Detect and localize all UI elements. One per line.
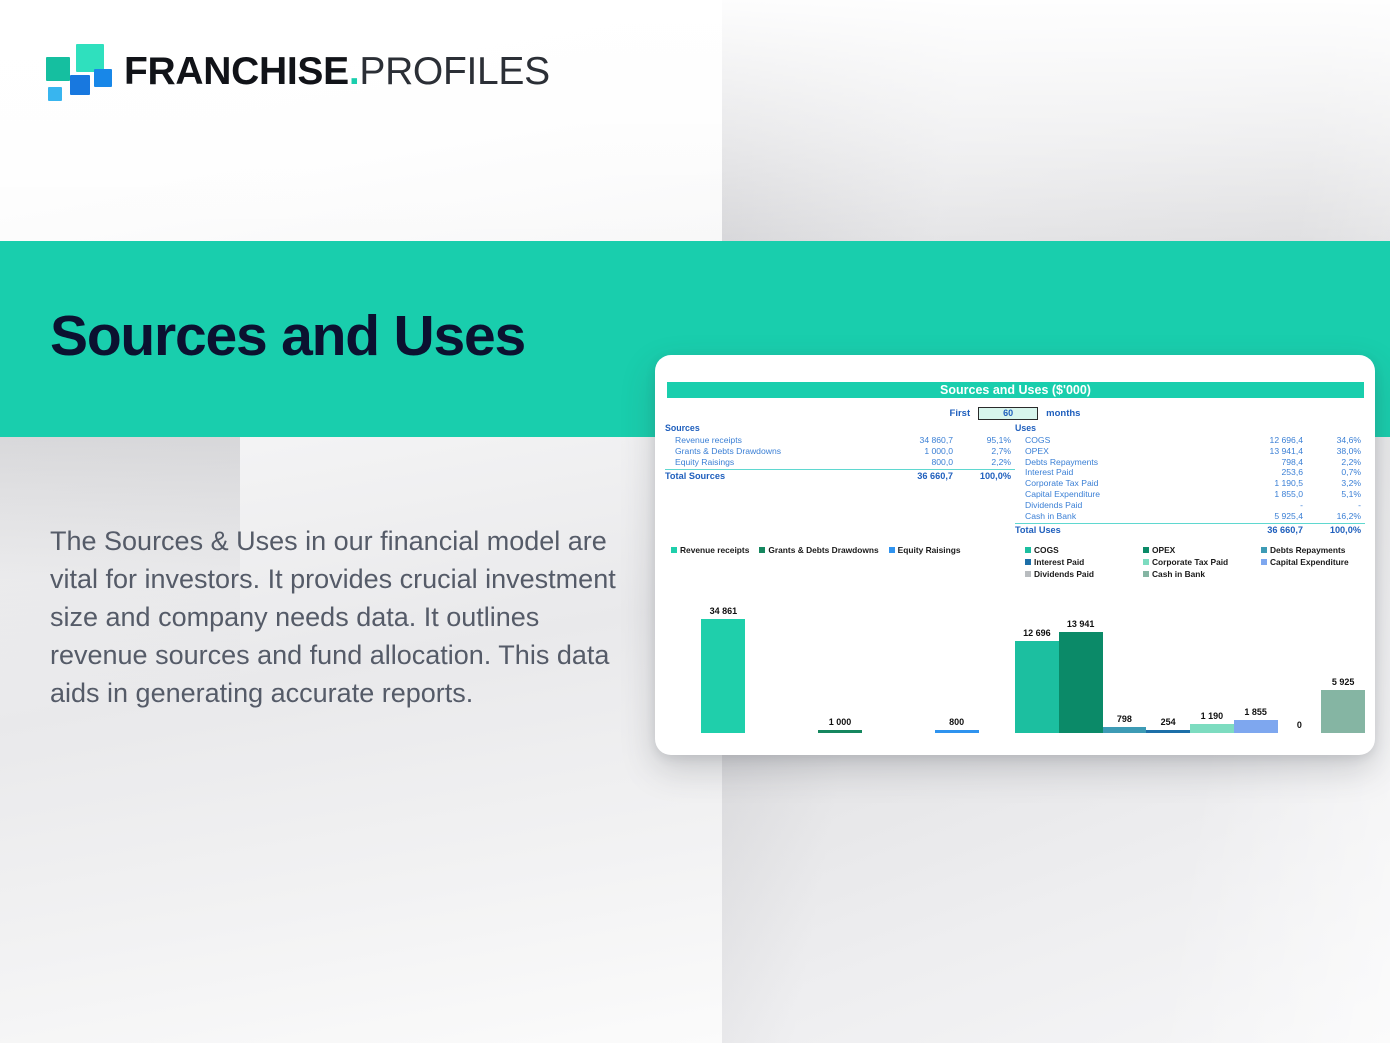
bar-value-label: 800 — [949, 717, 964, 727]
use-row-value: 12 696,4 — [1225, 435, 1303, 445]
legend-label: Corporate Tax Paid — [1152, 557, 1228, 567]
use-row-label: Cash in Bank — [1015, 511, 1225, 521]
legend-label: Capital Expenditure — [1270, 557, 1349, 567]
sources-and-uses-table: Sources Revenue receipts34 860,795,1%Gra… — [665, 423, 1365, 533]
legend-item[interactable]: Grants & Debts Drawdowns — [759, 545, 878, 555]
legend-item[interactable]: Interest Paid — [1025, 557, 1143, 567]
brand-name-bold: FRANCHISE — [124, 52, 349, 91]
use-row-pct: 38,0% — [1303, 446, 1365, 456]
uses-total-label: Total Uses — [1015, 525, 1225, 535]
sources-total-pct: 100,0% — [953, 471, 1015, 481]
bar[interactable] — [701, 619, 745, 733]
source-row-pct: 95,1% — [953, 435, 1015, 445]
months-input[interactable]: 60 — [978, 407, 1038, 420]
charts-area: 34 8611 000800 12 69613 9417982541 1901 … — [665, 583, 1365, 745]
sources-header: Sources — [665, 423, 1015, 435]
source-row-value: 34 860,7 — [875, 435, 953, 445]
background-top-sheen — [0, 0, 1390, 250]
five-squares-logo-mark-icon — [46, 42, 108, 100]
table-row: Cash in Bank5 925,416,2% — [1015, 511, 1365, 522]
uses-column: Uses COGS12 696,434,6%OPEX13 941,438,0%D… — [1015, 423, 1365, 533]
uses-rows: COGS12 696,434,6%OPEX13 941,438,0%Debts … — [1015, 435, 1365, 521]
bar-value-label: 34 861 — [710, 606, 738, 616]
legend-item[interactable]: Equity Raisings — [889, 545, 961, 555]
legend-item[interactable]: Capital Expenditure — [1261, 557, 1375, 567]
chart-legends: Revenue receiptsGrants & Debts Drawdowns… — [665, 545, 1365, 585]
sources-legend: Revenue receiptsGrants & Debts Drawdowns… — [665, 545, 1015, 585]
source-row-value: 800,0 — [875, 457, 953, 467]
bar-value-label: 1 000 — [829, 717, 852, 727]
table-row: Capital Expenditure1 855,05,1% — [1015, 489, 1365, 500]
table-row: Interest Paid253,60,7% — [1015, 467, 1365, 478]
bar-group: 800 — [935, 593, 979, 733]
logo-square-1 — [46, 57, 70, 81]
legend-swatch-icon — [1025, 571, 1031, 577]
bar[interactable] — [1146, 730, 1190, 733]
legend-label: Interest Paid — [1034, 557, 1084, 567]
uses-total-row: Total Uses 36 660,7 100,0% — [1015, 524, 1365, 537]
use-row-value: 1 855,0 — [1225, 489, 1303, 499]
sources-legend-items: Revenue receiptsGrants & Debts Drawdowns… — [665, 545, 1015, 555]
bar-value-label: 798 — [1117, 714, 1132, 724]
table-row: Dividends Paid-- — [1015, 500, 1365, 511]
bar-value-label: 0 — [1297, 720, 1302, 730]
legend-label: Debts Repayments — [1270, 545, 1345, 555]
use-row-label: COGS — [1015, 435, 1225, 445]
sources-rows: Revenue receipts34 860,795,1%Grants & De… — [665, 435, 1015, 467]
use-row-pct: 2,2% — [1303, 457, 1365, 467]
legend-item[interactable]: Cash in Bank — [1143, 569, 1261, 579]
bar-group: 12 696 — [1015, 593, 1059, 733]
bar-value-label: 1 855 — [1244, 707, 1267, 717]
use-row-value: 5 925,4 — [1225, 511, 1303, 521]
bar[interactable] — [818, 730, 862, 733]
legend-label: OPEX — [1152, 545, 1175, 555]
bar[interactable] — [1190, 724, 1234, 733]
bar[interactable] — [1321, 690, 1365, 733]
source-row-label: Grants & Debts Drawdowns — [665, 446, 875, 456]
logo-square-5 — [48, 87, 62, 101]
table-row: Equity Raisings800,02,2% — [665, 457, 1015, 468]
use-row-pct: 3,2% — [1303, 478, 1365, 488]
bar-group: 1 855 — [1234, 593, 1278, 733]
bar[interactable] — [1059, 632, 1103, 733]
source-row-pct: 2,7% — [953, 446, 1015, 456]
use-row-value: 1 190,5 — [1225, 478, 1303, 488]
sources-and-uses-card: Sources and Uses ($'000) First 60 months… — [655, 355, 1375, 755]
bar[interactable] — [1015, 641, 1059, 733]
legend-item[interactable]: Corporate Tax Paid — [1143, 557, 1261, 567]
bar[interactable] — [1234, 720, 1278, 733]
use-row-label: Interest Paid — [1015, 467, 1225, 477]
legend-swatch-icon — [1261, 559, 1267, 565]
use-row-pct: 5,1% — [1303, 489, 1365, 499]
sources-total-value: 36 660,7 — [875, 471, 953, 481]
uses-total-value: 36 660,7 — [1225, 525, 1303, 535]
bar-value-label: 13 941 — [1067, 619, 1095, 629]
legend-swatch-icon — [1025, 559, 1031, 565]
legend-swatch-icon — [889, 547, 895, 553]
bar[interactable] — [1103, 727, 1147, 733]
sources-total-row: Total Sources 36 660,7 100,0% — [665, 470, 1015, 483]
source-row-value: 1 000,0 — [875, 446, 953, 456]
legend-item[interactable]: OPEX — [1143, 545, 1261, 555]
use-row-pct: - — [1303, 500, 1365, 510]
brand-logo[interactable]: FRANCHISE . PROFILES — [46, 42, 550, 100]
sheet-title-bar: Sources and Uses ($'000) — [667, 382, 1364, 398]
bar-value-label: 254 — [1161, 717, 1176, 727]
sources-total-label: Total Sources — [665, 471, 875, 481]
uses-bar-chart: 12 69613 9417982541 1901 85505 925 — [1015, 583, 1365, 745]
legend-swatch-icon — [1025, 547, 1031, 553]
legend-item[interactable]: Debts Repayments — [1261, 545, 1375, 555]
bar-value-label: 1 190 — [1201, 711, 1224, 721]
hero-description: The Sources & Uses in our financial mode… — [50, 522, 620, 712]
uses-total-pct: 100,0% — [1303, 525, 1365, 535]
table-row: Revenue receipts34 860,795,1% — [665, 435, 1015, 446]
use-row-label: OPEX — [1015, 446, 1225, 456]
bar-group: 798 — [1103, 593, 1147, 733]
use-row-value: 13 941,4 — [1225, 446, 1303, 456]
table-row: Debts Repayments798,42,2% — [1015, 457, 1365, 468]
source-row-pct: 2,2% — [953, 457, 1015, 467]
legend-swatch-icon — [1143, 571, 1149, 577]
legend-swatch-icon — [759, 547, 765, 553]
legend-item[interactable]: Revenue receipts — [671, 545, 749, 555]
uses-legend-items: COGSOPEXDebts RepaymentsInterest PaidCor… — [1015, 545, 1365, 579]
months-control[interactable]: First 60 months — [655, 407, 1375, 420]
use-row-label: Debts Repayments — [1015, 457, 1225, 467]
brand-wordmark: FRANCHISE . PROFILES — [124, 52, 550, 91]
source-row-label: Equity Raisings — [665, 457, 875, 467]
bar-group: 5 925 — [1321, 593, 1365, 733]
bar-group: 1 190 — [1190, 593, 1234, 733]
sources-plot: 34 8611 000800 — [665, 593, 1015, 733]
legend-label: Revenue receipts — [680, 545, 749, 555]
legend-swatch-icon — [1261, 547, 1267, 553]
legend-label: Grants & Debts Drawdowns — [768, 545, 878, 555]
legend-label: Dividends Paid — [1034, 569, 1094, 579]
uses-legend: COGSOPEXDebts RepaymentsInterest PaidCor… — [1015, 545, 1365, 585]
bar[interactable] — [935, 730, 979, 733]
use-row-label: Capital Expenditure — [1015, 489, 1225, 499]
bar-value-label: 5 925 — [1332, 677, 1355, 687]
legend-item[interactable]: COGS — [1025, 545, 1143, 555]
page-title: Sources and Uses — [50, 305, 525, 369]
bar-group: 13 941 — [1059, 593, 1103, 733]
table-row: Corporate Tax Paid1 190,53,2% — [1015, 478, 1365, 489]
legend-label: COGS — [1034, 545, 1059, 555]
logo-square-2 — [76, 44, 104, 72]
slide-canvas: FRANCHISE . PROFILES Sources and Uses Th… — [0, 0, 1390, 1043]
use-row-pct: 34,6% — [1303, 435, 1365, 445]
months-prefix-label: First — [950, 408, 971, 419]
legend-item[interactable]: Dividends Paid — [1025, 569, 1143, 579]
logo-square-3 — [70, 75, 90, 95]
use-row-value: - — [1225, 500, 1303, 510]
legend-label: Cash in Bank — [1152, 569, 1205, 579]
use-row-pct: 16,2% — [1303, 511, 1365, 521]
brand-name-thin: PROFILES — [359, 52, 550, 91]
legend-swatch-icon — [1143, 547, 1149, 553]
legend-swatch-icon — [1143, 559, 1149, 565]
legend-label: Equity Raisings — [898, 545, 961, 555]
uses-header: Uses — [1015, 423, 1365, 435]
bar-group: 0 — [1278, 593, 1322, 733]
use-row-pct: 0,7% — [1303, 467, 1365, 477]
table-row: Grants & Debts Drawdowns1 000,02,7% — [665, 446, 1015, 457]
sources-bar-chart: 34 8611 000800 — [665, 583, 1015, 745]
months-suffix-label: months — [1046, 408, 1080, 419]
use-row-label: Dividends Paid — [1015, 500, 1225, 510]
legend-swatch-icon — [671, 547, 677, 553]
bar-group: 34 861 — [701, 593, 745, 733]
use-row-label: Corporate Tax Paid — [1015, 478, 1225, 488]
bar-value-label: 12 696 — [1023, 628, 1051, 638]
bar-group: 1 000 — [818, 593, 862, 733]
bar-group: 254 — [1146, 593, 1190, 733]
brand-name-dot: . — [349, 52, 360, 91]
use-row-value: 253,6 — [1225, 467, 1303, 477]
table-row: OPEX13 941,438,0% — [1015, 446, 1365, 457]
uses-plot: 12 69613 9417982541 1901 85505 925 — [1015, 593, 1365, 733]
use-row-value: 798,4 — [1225, 457, 1303, 467]
source-row-label: Revenue receipts — [665, 435, 875, 445]
logo-square-4 — [94, 69, 112, 87]
sources-column: Sources Revenue receipts34 860,795,1%Gra… — [665, 423, 1015, 533]
table-row: COGS12 696,434,6% — [1015, 435, 1365, 446]
